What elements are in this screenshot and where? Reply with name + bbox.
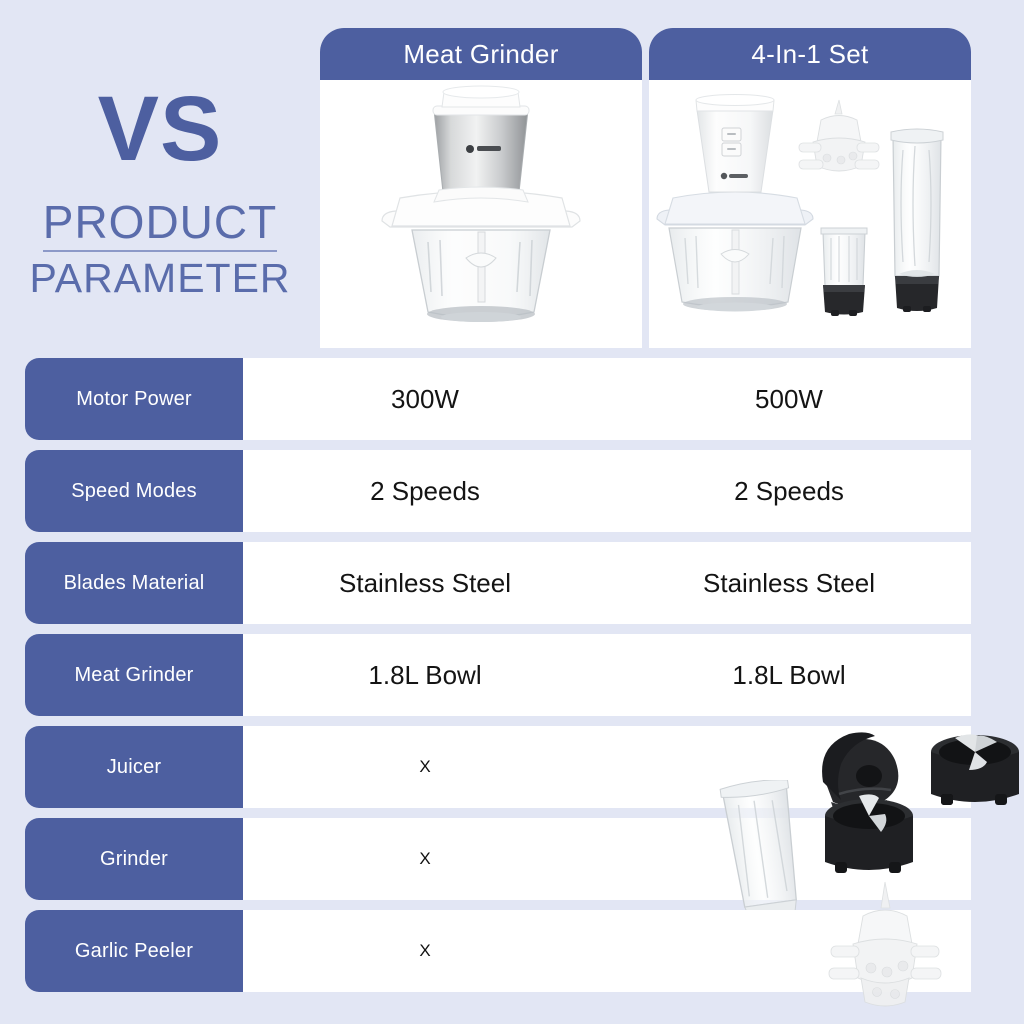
four-in-one-set-photo: [649, 80, 971, 348]
product-column-four-in-one-set[interactable]: 4-In-1 Set: [649, 28, 971, 348]
row-label-juicer: Juicer: [25, 726, 243, 808]
grinder-cup-part: [720, 780, 807, 924]
row-label-grinder: Grinder: [25, 818, 243, 900]
cell-blades-material-meat-grinder: Stainless Steel: [243, 542, 607, 624]
table-row: Speed Modes 2 Speeds 2 Speeds: [25, 450, 971, 532]
cell-motor-power-four-in-one: 500W: [607, 358, 971, 440]
comparison-table: Meat Grinder: [25, 28, 971, 958]
row-cells: 300W 500W: [243, 358, 971, 440]
meat-grinder-illustration: [320, 80, 642, 348]
cell-speed-modes-meat-grinder: 2 Speeds: [243, 450, 607, 532]
grinder-blade-base-part: [825, 794, 913, 873]
product-header-row: Meat Grinder: [320, 28, 971, 348]
row-label-meat-grinder: Meat Grinder: [25, 634, 243, 716]
row-label-motor-power: Motor Power: [25, 358, 243, 440]
cell-garlic-peeler-meat-grinder: X: [243, 910, 607, 992]
cell-motor-power-meat-grinder: 300W: [243, 358, 607, 440]
cell-juicer-meat-grinder: X: [243, 726, 607, 808]
meat-grinder-photo: [320, 80, 642, 348]
four-in-one-set-illustration: [649, 80, 971, 348]
product-title-meat-grinder: Meat Grinder: [320, 28, 642, 80]
row-label-blades-material: Blades Material: [25, 542, 243, 624]
cell-meat-grinder-meat-grinder: 1.8L Bowl: [243, 634, 607, 716]
garlic-peeler-part: [799, 100, 879, 171]
juicer-bottle-part: [891, 129, 943, 312]
row-cells: X: [243, 910, 971, 992]
cell-speed-modes-four-in-one: 2 Speeds: [607, 450, 971, 532]
row-label-garlic-peeler: Garlic Peeler: [25, 910, 243, 992]
juicer-blade-base-part: [931, 734, 1019, 805]
row-label-speed-modes: Speed Modes: [25, 450, 243, 532]
product-title-four-in-one-set: 4-In-1 Set: [649, 28, 971, 80]
cell-blades-material-four-in-one: Stainless Steel: [607, 542, 971, 624]
row-cells: Stainless Steel Stainless Steel: [243, 542, 971, 624]
grinder-cup-part: [821, 228, 867, 316]
cell-garlic-peeler-four-in-one: [607, 910, 971, 992]
table-row: Motor Power 300W 500W: [25, 358, 971, 440]
table-row: Blades Material Stainless Steel Stainles…: [25, 542, 971, 624]
cell-grinder-meat-grinder: X: [243, 818, 607, 900]
row-cells: 2 Speeds 2 Speeds: [243, 450, 971, 532]
garlic-peeler-photo: [813, 878, 963, 1024]
table-row: Garlic Peeler X: [25, 910, 971, 992]
product-column-meat-grinder[interactable]: Meat Grinder: [320, 28, 642, 348]
